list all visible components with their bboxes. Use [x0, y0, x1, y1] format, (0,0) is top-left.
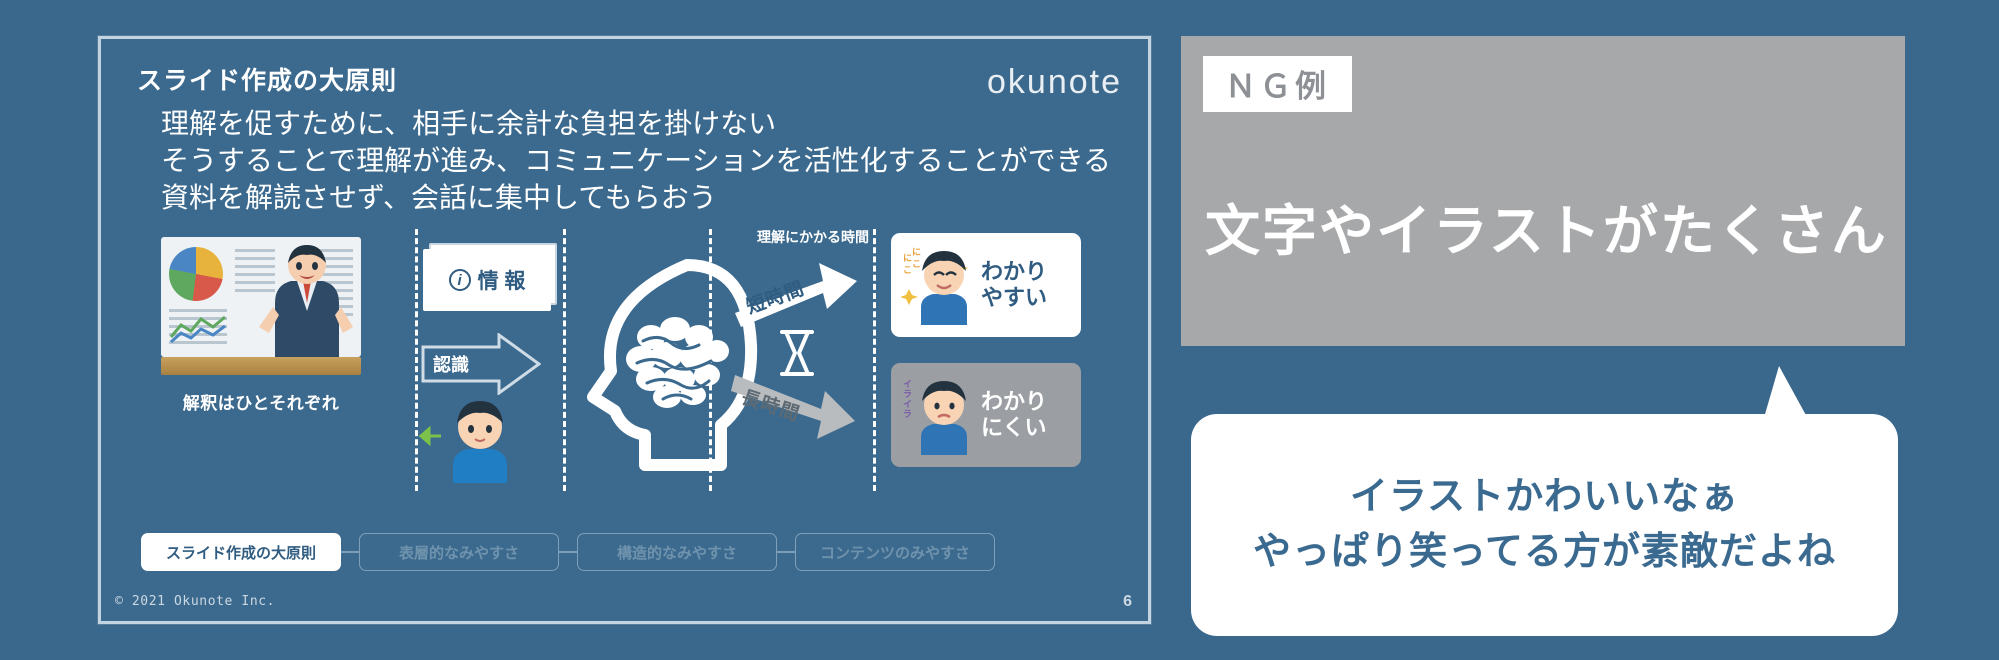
body-line-3: 資料を解読させず、会話に集中してもらおう: [161, 179, 1121, 216]
information-card: i 情 報: [423, 249, 551, 311]
svg-text:イ: イ: [903, 379, 912, 389]
dashed-divider-right2: [873, 229, 876, 491]
info-circle-icon: i: [449, 269, 471, 291]
persona-caption: 解釈はひとそれぞれ: [151, 389, 371, 414]
long-time-arrow: 長時間: [729, 365, 859, 445]
svg-text:ラ: ラ: [903, 389, 912, 399]
bubble-line-2: やっぱり笑ってる方が素敵だよね: [1253, 525, 1836, 580]
result-label-bad: わかり にくい: [981, 389, 1047, 441]
slide-title: スライド作成の大原則: [137, 61, 397, 97]
green-arrow-icon: [419, 425, 443, 447]
copyright-text: © 2021 Okunote Inc.: [115, 594, 275, 609]
result-card-confusing: イライラ わかり にくい: [891, 363, 1081, 467]
frustrated-face-icon: イライラ: [901, 375, 975, 455]
dashed-divider-left: [415, 229, 418, 491]
tab-content-readability[interactable]: コンテンツのみやすさ: [795, 533, 995, 571]
svg-text:こ: こ: [912, 259, 921, 269]
slide-body-text: 理解を促すために、相手に余計な負担を掛けない そうすることで理解が進み、コミュニ…: [161, 105, 1121, 217]
happy-face-icon: にこ にこ: [901, 245, 975, 325]
ng-example-panel: ＮＧ例 文字やイラストがたくさん: [1181, 36, 1905, 346]
body-line-2: そうすることで理解が進み、コミュニケーションを活性化することができる: [161, 142, 1121, 179]
wave-chart-icon: [169, 311, 227, 345]
screenshot-root: スライド作成の大原則 okunote 理解を促すために、相手に余計な負担を掛けな…: [0, 0, 1999, 660]
presenter-person-icon: [257, 241, 357, 357]
presenter-illustration: [161, 237, 361, 357]
tab-slide-principles[interactable]: スライド作成の大原則: [141, 533, 341, 571]
body-line-1: 理解を促すために、相手に余計な負担を掛けない: [161, 105, 1121, 142]
listener-person-icon: [443, 397, 517, 483]
svg-text:ラ: ラ: [903, 409, 912, 419]
svg-text:に: に: [912, 247, 921, 257]
commentary-panel: ＮＧ例 文字やイラストがたくさん イラストかわいいなぁ やっぱり笑ってる方が素敵…: [1181, 36, 1905, 636]
recognition-arrow: 認識: [421, 333, 541, 395]
concept-diagram: 解釈はひとそれぞれ i 情 報 認識: [131, 229, 1121, 539]
podium-bar: [161, 357, 361, 375]
dashed-divider-mid: [563, 229, 566, 491]
result-card-understandable: にこ にこ わかり やすい: [891, 233, 1081, 337]
information-label: 情 報: [478, 265, 526, 295]
result-label-good: わかり やすい: [981, 259, 1047, 311]
short-time-arrow: 短時間: [731, 255, 861, 335]
ng-heading: 文字やイラストがたくさん: [1205, 186, 1888, 266]
tab-structural-readability[interactable]: 構造的なみやすさ: [577, 533, 777, 571]
tab-surface-readability[interactable]: 表層的なみやすさ: [359, 533, 559, 571]
pie-chart-icon: [169, 247, 223, 301]
svg-text:イ: イ: [903, 399, 912, 409]
bubble-line-1: イラストかわいいなぁ: [1253, 470, 1836, 525]
page-number: 6: [1123, 593, 1132, 611]
slide-nav-tabs: スライド作成の大原則 表層的なみやすさ 構造的なみやすさ コンテンツのみやすさ: [141, 533, 995, 571]
presentation-slide: スライド作成の大原則 okunote 理解を促すために、相手に余計な負担を掛けな…: [98, 36, 1151, 624]
time-label: 理解にかかる時間: [743, 227, 883, 247]
svg-text:に: に: [903, 253, 912, 263]
svg-text:こ: こ: [903, 265, 912, 275]
ng-badge: ＮＧ例: [1203, 56, 1352, 112]
tab-connector-2: [559, 551, 577, 553]
tab-connector-1: [341, 551, 359, 553]
speech-bubble: イラストかわいいなぁ やっぱり笑ってる方が素敵だよね: [1191, 414, 1898, 636]
speech-bubble-text: イラストかわいいなぁ やっぱり笑ってる方が素敵だよね: [1253, 470, 1836, 580]
tab-connector-3: [777, 551, 795, 553]
recognition-label: 認識: [433, 351, 469, 377]
okunote-logo: okunote: [987, 63, 1122, 102]
